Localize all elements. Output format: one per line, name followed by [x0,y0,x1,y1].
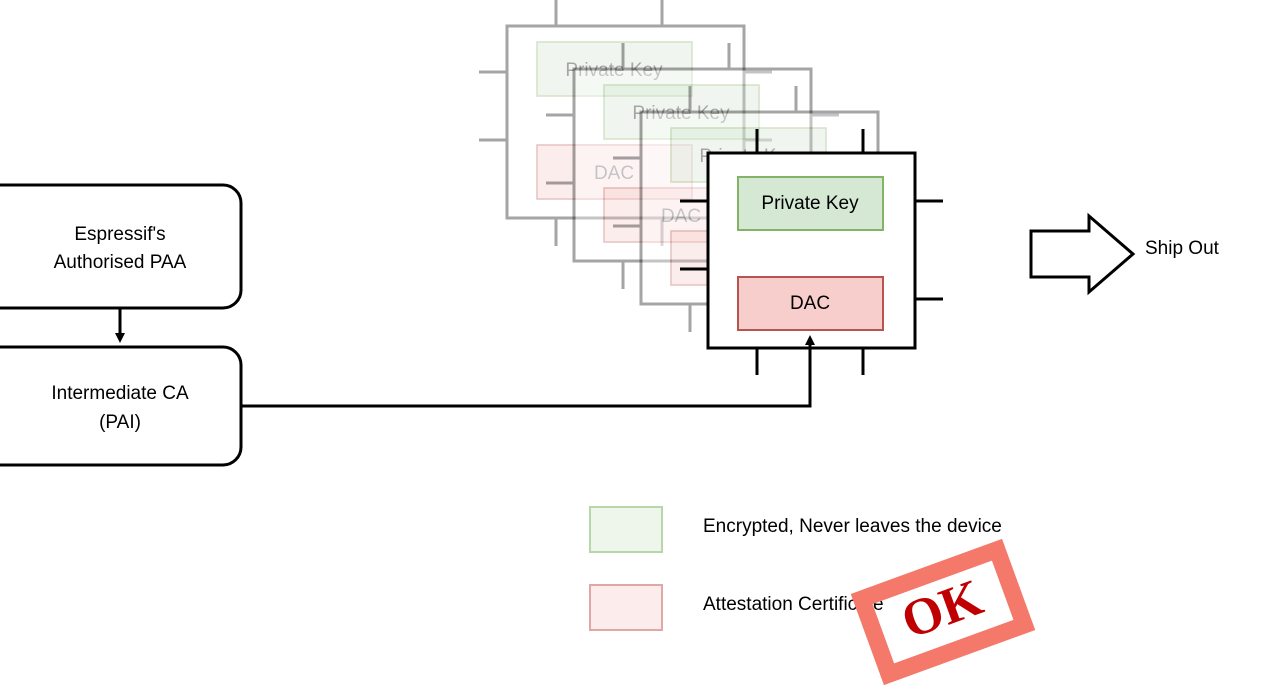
paa-label-line2: Authorised PAA [54,252,187,273]
legend-label-0: Encrypted, Never leaves the device [703,516,1002,537]
legend-item-1: Attestation Certificate [590,585,884,630]
pai-label-line1: Intermediate CA [51,383,189,404]
pai-box [0,347,241,465]
ship-out-group[interactable]: Ship Out [1031,216,1220,292]
legend-item-0: Encrypted, Never leaves the device [590,507,1002,552]
ok-stamp: OK [862,550,1025,674]
diagram-canvas: Private Key DAC Private Key DAC [0,0,1262,688]
node-pai[interactable]: Intermediate CA (PAI) [0,347,241,465]
edge-pai-to-chip [241,340,810,406]
chip-dac-label-3: DAC [790,293,830,314]
node-paa[interactable]: Espressif's Authorised PAA [0,185,241,308]
pai-label-line2: (PAI) [99,412,141,433]
paa-label-line1: Espressif's [74,224,165,245]
chip-private-key-label-3: Private Key [761,193,859,214]
ship-out-label: Ship Out [1145,238,1220,259]
block-arrow-right-icon [1031,216,1133,292]
legend-swatch-red [590,585,662,630]
legend-swatch-green [590,507,662,552]
flow-diagram: Private Key DAC Private Key DAC [0,0,1262,688]
paa-box [0,185,241,308]
chip-card-3[interactable]: Private Key DAC [680,129,943,375]
